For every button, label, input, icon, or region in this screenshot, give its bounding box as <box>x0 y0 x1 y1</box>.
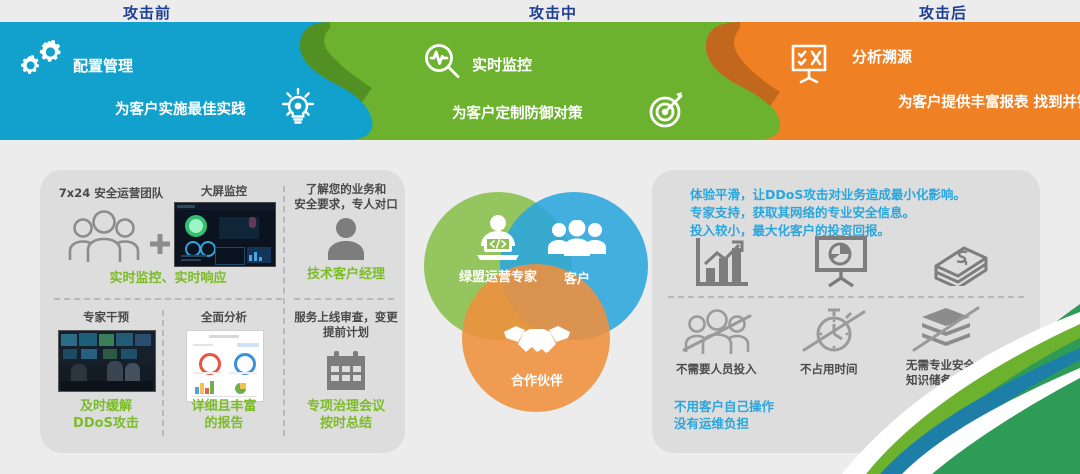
venn-label-customer: 客户 <box>543 268 611 287</box>
calendar-icon <box>325 350 367 392</box>
cell-footer-team: 实时监控、实时响应 <box>54 270 282 287</box>
presentation-pie-icon <box>812 234 870 288</box>
report-screenshot <box>186 330 264 402</box>
service-panel: 7x24 安全运营团队 大屏监控 <box>40 170 405 453</box>
cell-footer-tam: 技术客户经理 <box>290 266 402 283</box>
lower-section: 7x24 安全运营团队 大屏监控 <box>0 150 1080 474</box>
cell-footer-analysis: 详细且丰富 的报告 <box>168 398 280 432</box>
people-group-icon <box>65 208 143 266</box>
phase-label-during: 攻击中 <box>529 2 577 23</box>
venn-circles <box>410 178 655 428</box>
cell-heading-analysis: 全面分析 <box>172 310 276 325</box>
ribbon-subtitle-before: 为客户实施最佳实践 <box>115 100 246 120</box>
cell-heading-tam: 了解您的业务和 安全要求，专人对口 <box>292 182 400 212</box>
people-group-struck-icon <box>682 308 752 356</box>
noc-photo <box>58 330 156 392</box>
handshake-icon <box>502 320 572 364</box>
ribbon-subtitle-during: 为客户定制防御对策 <box>452 104 583 124</box>
ribbon-title-during: 实时监控 <box>472 54 532 75</box>
divider-vertical-right <box>283 186 285 436</box>
lightbulb-icon <box>275 85 321 131</box>
venn-label-partner: 合作伙伴 <box>482 370 592 389</box>
benefit-label-staff: 不需要人员投入 <box>676 362 786 377</box>
cell-heading-intervention: 专家干预 <box>54 310 158 325</box>
cell-heading-review: 服务上线审查，变更 提前计划 <box>290 310 402 340</box>
laptop-code-person-icon <box>467 214 529 264</box>
divider-horizontal-right <box>294 298 394 300</box>
phase-label-before: 攻击前 <box>123 2 171 23</box>
cell-heading-team: 7x24 安全运营团队 <box>52 186 170 201</box>
money-bills-icon <box>930 232 992 286</box>
customer-people-icon <box>546 220 608 260</box>
decorative-swoosh <box>780 304 1080 474</box>
header-ribbon: 攻击前 攻击中 攻击后 配置管理 为客户实施最佳实践 <box>0 0 1080 150</box>
cell-footer-review: 专项治理会议 按时总结 <box>288 398 404 432</box>
phase-label-after: 攻击后 <box>919 2 967 23</box>
bar-chart-growth-icon <box>694 236 750 288</box>
person-icon <box>325 216 367 260</box>
cell-footer-intervention: 及时缓解 DDoS攻击 <box>48 398 164 432</box>
ribbon-title-after: 分析溯源 <box>852 46 912 67</box>
whiteboard-icon <box>785 38 833 86</box>
venn-diagram: 绿盟运营专家 客户 合作伙伴 <box>410 178 655 428</box>
infographic-canvas: 攻击前 攻击中 攻击后 配置管理 为客户实施最佳实践 <box>0 0 1080 474</box>
ribbon-subtitle-after: 为客户提供丰富报表 找到并锁定攻击源 <box>898 93 1080 113</box>
plus-icon <box>148 232 172 256</box>
divider-horizontal-left <box>54 298 282 300</box>
ribbon-title-before: 配置管理 <box>73 55 133 76</box>
gears-icon <box>18 38 64 78</box>
dashboard-screenshot <box>174 202 276 267</box>
benefits-divider <box>668 296 1024 298</box>
cell-heading-bigscreen: 大屏监控 <box>172 184 276 199</box>
target-icon <box>645 88 689 132</box>
magnifier-pulse-icon <box>420 40 464 84</box>
